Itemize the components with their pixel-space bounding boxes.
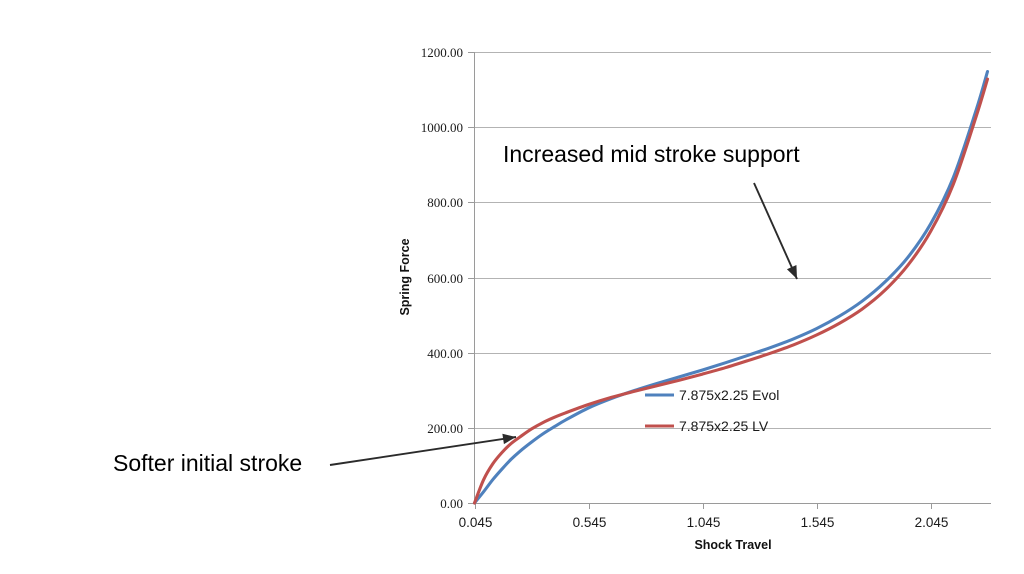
- legend-label-evol: 7.875x2.25 Evol: [679, 387, 779, 403]
- y-tick-label-600: 600.00: [427, 271, 463, 286]
- legend-label-lv: 7.875x2.25 LV: [679, 418, 769, 434]
- spring-force-vs-shock-travel-chart: 0.00200.00400.00600.00800.001000.001200.…: [0, 0, 1024, 574]
- y-axis-title: Spring Force: [398, 238, 412, 315]
- chart-background: [0, 0, 1024, 574]
- x-tick-label-2.045: 2.045: [915, 515, 949, 530]
- x-tick-label-0.545: 0.545: [573, 515, 607, 530]
- chart-container: 0.00200.00400.00600.00800.001000.001200.…: [0, 0, 1024, 574]
- annotation-text-initial-stroke: Softer initial stroke: [113, 450, 302, 476]
- y-tick-label-800: 800.00: [427, 195, 463, 210]
- y-tick-label-1000: 1000.00: [421, 120, 463, 135]
- annotation-text-mid-stroke: Increased mid stroke support: [503, 141, 800, 167]
- x-tick-label-1.045: 1.045: [687, 515, 721, 530]
- x-tick-label-1.545: 1.545: [801, 515, 835, 530]
- y-tick-label-200: 200.00: [427, 421, 463, 436]
- y-tick-label-1200: 1200.00: [421, 45, 463, 60]
- x-tick-label-0.045: 0.045: [459, 515, 493, 530]
- x-axis-title: Shock Travel: [694, 538, 771, 552]
- y-tick-label-400: 400.00: [427, 346, 463, 361]
- y-tick-label-0: 0.00: [440, 496, 463, 511]
